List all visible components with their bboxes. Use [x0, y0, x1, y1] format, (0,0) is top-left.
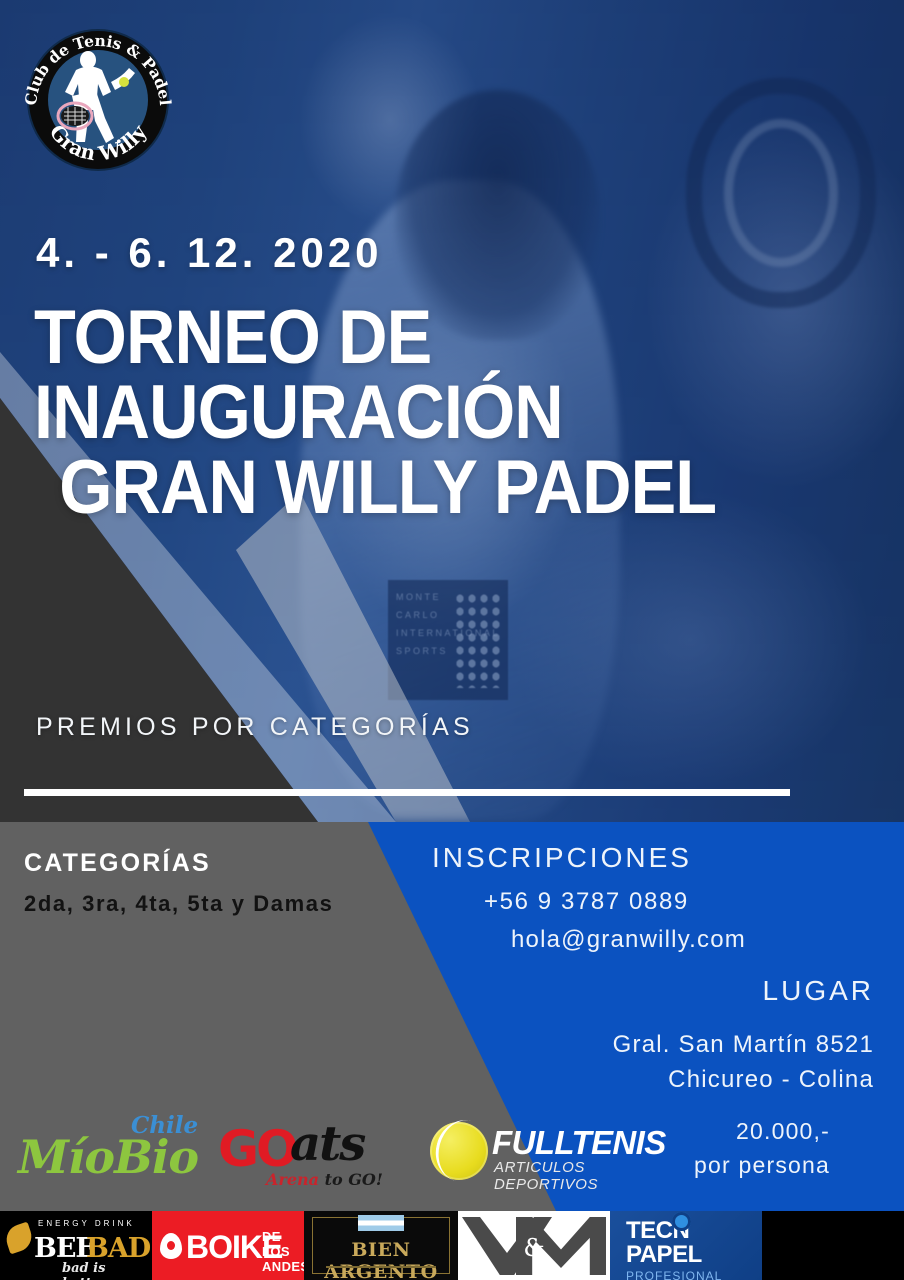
- beebad-word-bad: BAD: [86, 1233, 150, 1264]
- price-unit: por persona: [694, 1152, 830, 1179]
- categories-list: 2da, 3ra, 4ta, 5ta y Damas: [24, 891, 333, 917]
- goats-tagline-dark: to GO!: [319, 1170, 383, 1189]
- bee-icon: [3, 1222, 36, 1255]
- tournament-poster: MONTECARLOINTERNATIONALSPORTS: [0, 0, 904, 1280]
- sponsor-tecnopapel: TECN PAPEL PROFESIONAL: [610, 1211, 762, 1280]
- sponsor-strip: ENERGY DRINK BEE BAD bad is better BOIKE…: [0, 1211, 904, 1280]
- venue-address-line-1: Gral. San Martín 8521: [613, 1031, 874, 1059]
- boike-subtitle-line-1: DE LOS: [262, 1229, 290, 1259]
- inscriptions-phone[interactable]: +56 9 3787 0889: [484, 888, 689, 916]
- fulltenis-subtitle: ARTICULOS DEPORTIVOS: [494, 1159, 630, 1193]
- goats-ats-text: ats: [290, 1116, 364, 1172]
- price-amount: 20.000,-: [736, 1118, 830, 1145]
- tennis-ball-icon: [119, 77, 129, 87]
- fulltenis-wordmark: FULLTENIS: [492, 1124, 666, 1162]
- wm-ampersand: &: [523, 1234, 544, 1262]
- title-line-1: TORNEO DE: [34, 300, 790, 375]
- club-logo-badge: Club de Tenis & Padel Gran Willy: [18, 20, 178, 180]
- beebad-tagline-top: ENERGY DRINK: [38, 1219, 135, 1228]
- venue-heading: LUGAR: [763, 975, 874, 1007]
- beebad-tagline: bad is better: [62, 1261, 152, 1280]
- bien-argento-wordmark: BIEN ARGENTO: [304, 1239, 458, 1280]
- sponsor-blank-panel: [762, 1211, 904, 1280]
- sponsor-boike: BOIKE DE LOSANDES: [152, 1211, 304, 1280]
- partner-logo-goats: GO ats Arena to GO!: [218, 1114, 388, 1192]
- partner-logos: MíoBio Chile GO ats Arena to GO! FULLTEN…: [0, 1108, 640, 1208]
- inscriptions-email[interactable]: hola@granwilly.com: [511, 926, 746, 954]
- hero-section: MONTECARLOINTERNATIONALSPORTS: [0, 0, 904, 822]
- venue-address-line-2: Chicureo - Colina: [668, 1066, 874, 1094]
- frame-underline: [326, 1266, 436, 1268]
- goats-tagline-red: Arena: [266, 1170, 319, 1189]
- horizontal-divider: [24, 789, 790, 796]
- categories-heading: CATEGORÍAS: [24, 849, 211, 878]
- prizes-subtitle: PREMIOS POR CATEGORÍAS: [36, 713, 474, 742]
- goats-tagline: Arena to GO!: [266, 1170, 383, 1189]
- boike-subtitle-line-2: ANDES: [262, 1259, 304, 1274]
- event-date: 4. - 6. 12. 2020: [36, 229, 383, 277]
- inscriptions-heading: INSCRIPCIONES: [432, 842, 692, 874]
- tennis-ball-icon: [430, 1122, 488, 1180]
- paper-roll-icon: [672, 1212, 691, 1231]
- page-title: TORNEO DE INAUGURACIÓN GRAN WILLY PADEL: [34, 300, 790, 526]
- wm-logo-mark: &: [458, 1211, 610, 1280]
- partner-logo-miobio: MíoBio Chile: [18, 1112, 198, 1188]
- sponsor-beebad: ENERGY DRINK BEE BAD bad is better: [0, 1211, 152, 1280]
- sponsor-wm: &: [458, 1211, 610, 1280]
- drop-icon: [160, 1233, 182, 1259]
- miobio-chile-label: Chile: [131, 1112, 198, 1139]
- partner-logo-fulltenis: FULLTENIS ARTICULOS DEPORTIVOS: [430, 1116, 630, 1188]
- title-line-2: INAUGURACIÓN: [34, 375, 790, 450]
- title-line-3: GRAN WILLY PADEL: [34, 450, 790, 525]
- sponsor-bien-argento: BIEN ARGENTO: [304, 1211, 458, 1280]
- tecnopapel-line-2: PAPEL: [626, 1241, 702, 1268]
- boike-subtitle: DE LOSANDES: [262, 1229, 304, 1274]
- argentina-flag-icon: [358, 1215, 404, 1231]
- tecnopapel-line-3: PROFESIONAL: [626, 1269, 722, 1280]
